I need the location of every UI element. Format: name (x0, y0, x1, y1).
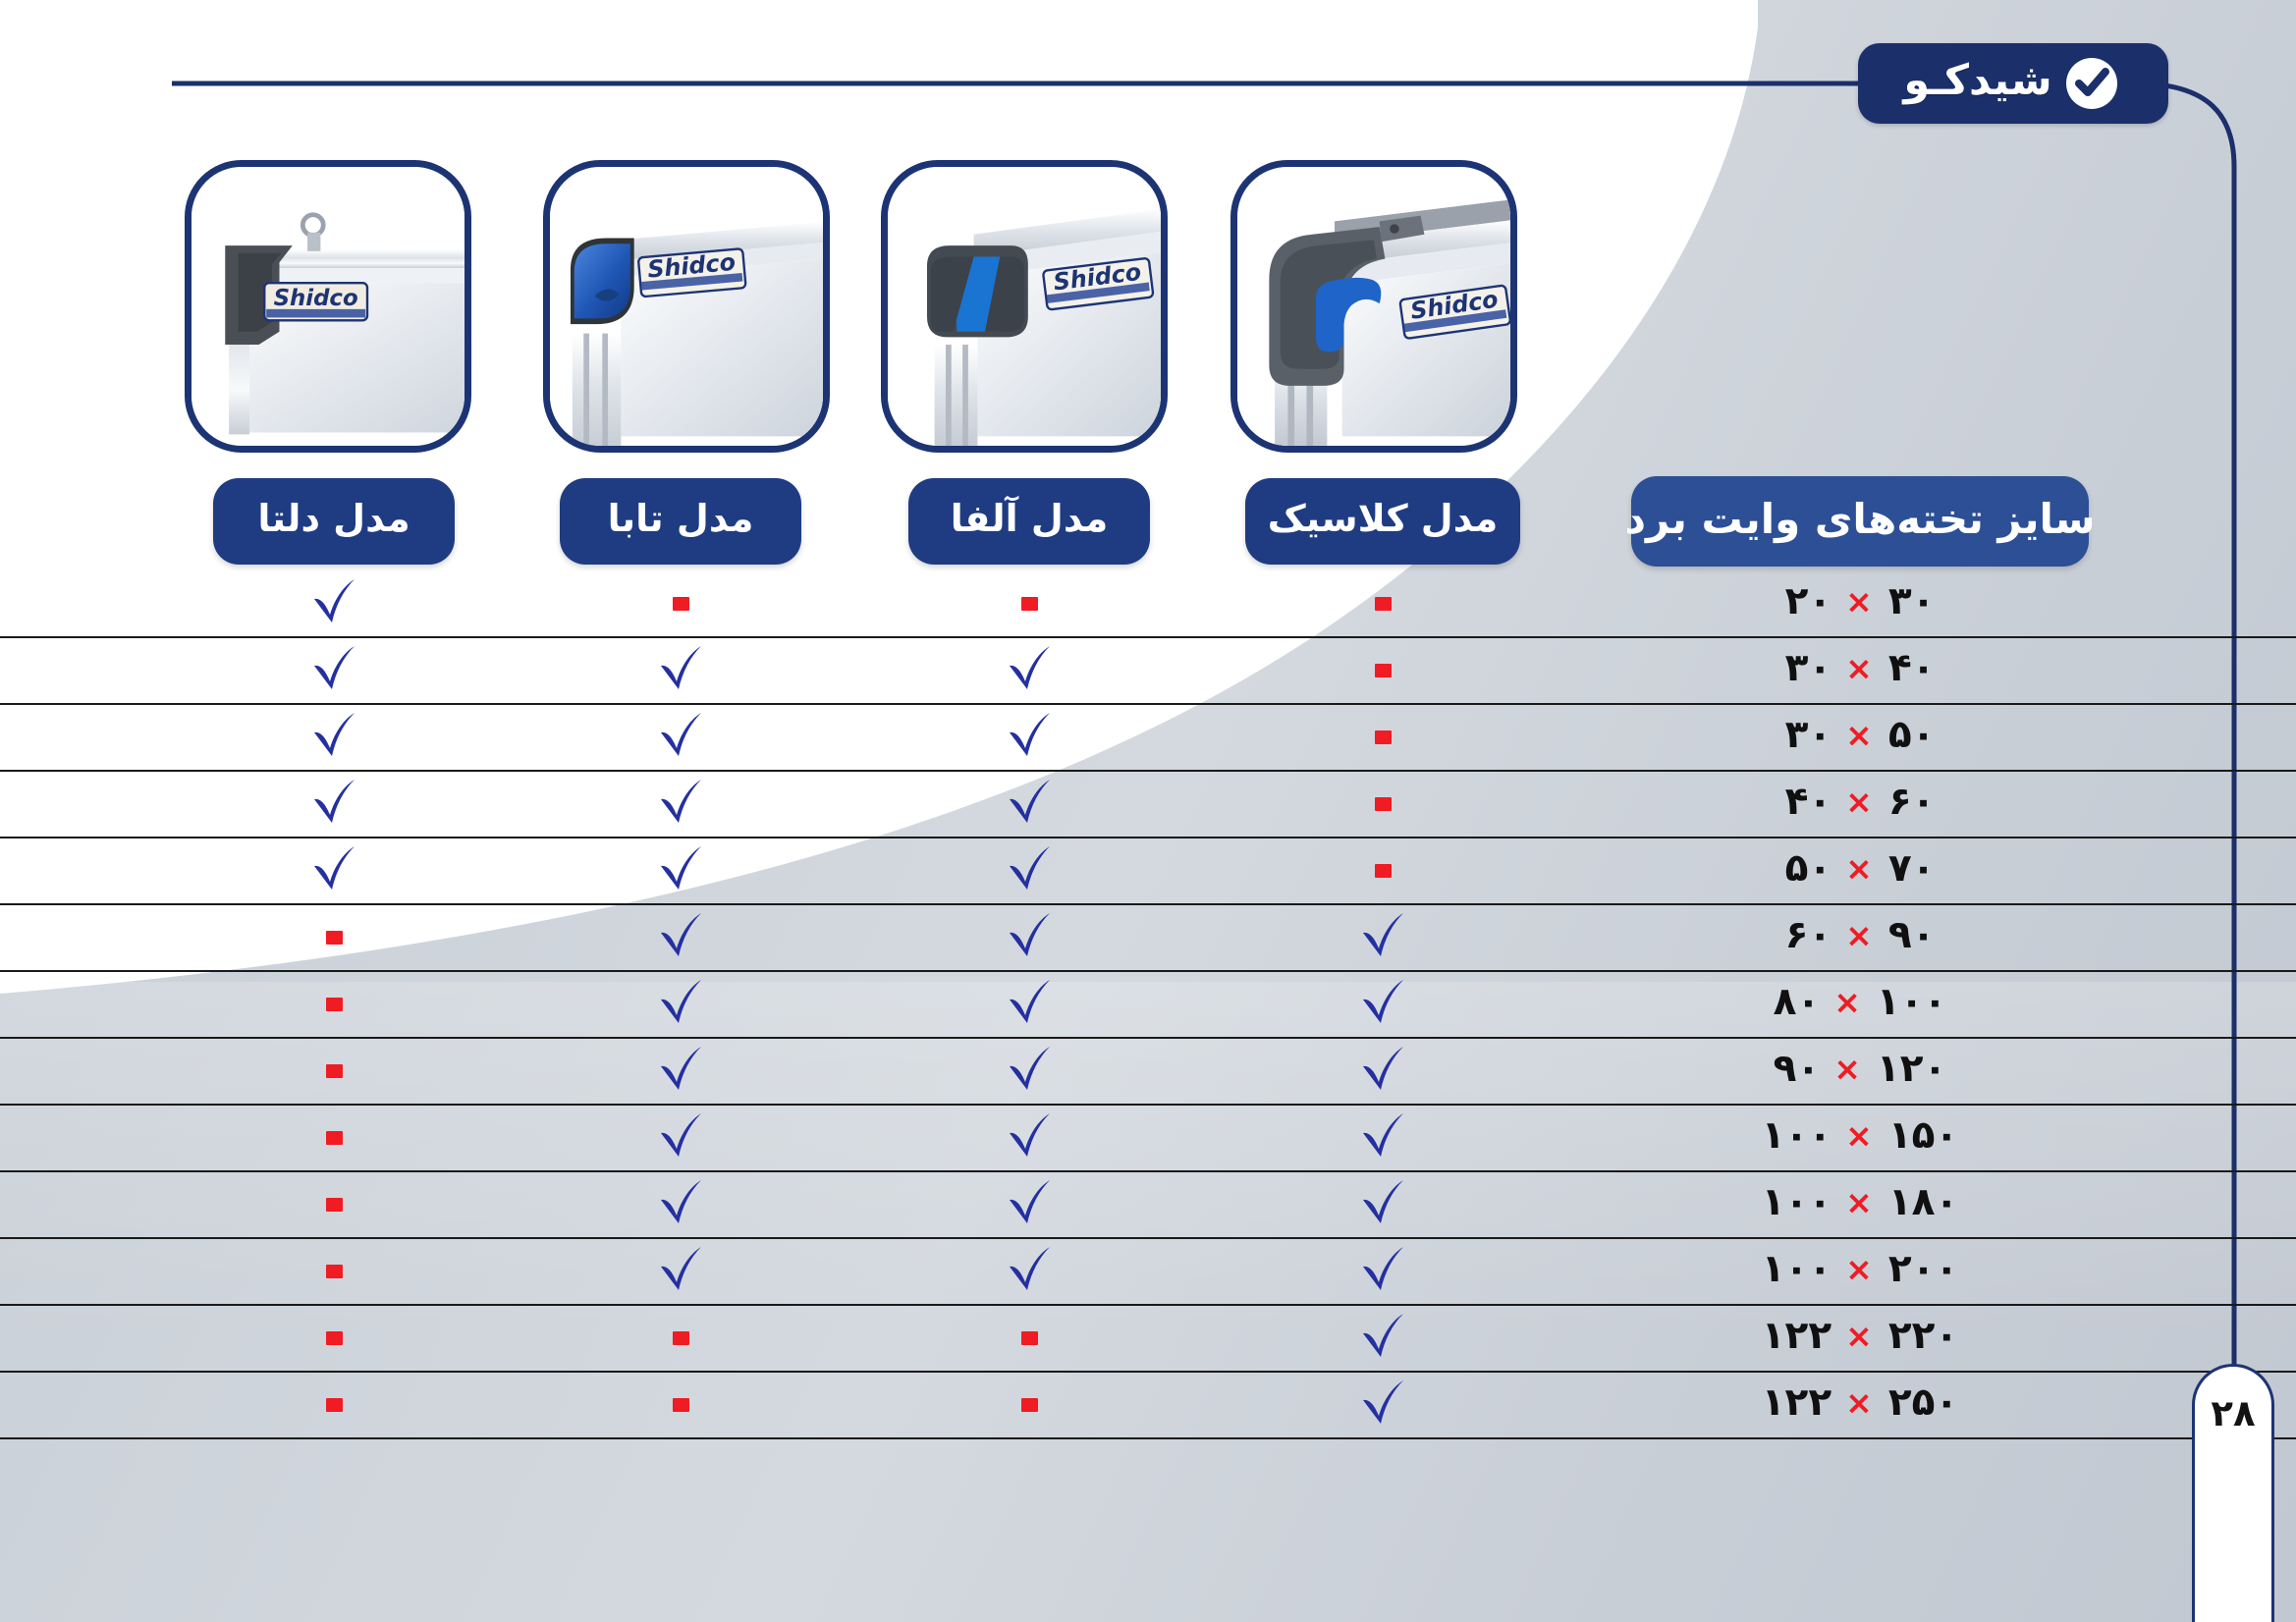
unavailable-dash-icon (673, 597, 689, 611)
column-header-delta-label: مدل دلتا (257, 497, 410, 540)
check-icon (308, 845, 359, 896)
cell-alfa (908, 905, 1150, 970)
check-icon (1004, 712, 1055, 763)
size-width: ۳۰ (1785, 646, 1832, 690)
size-multiply-sign: × (1845, 1383, 1875, 1422)
cell-alfa (908, 571, 1150, 636)
size-height: ۱۵۰ (1888, 1113, 1958, 1158)
unavailable-dash-icon (1021, 1398, 1038, 1412)
size-multiply-sign: × (1845, 849, 1875, 888)
check-icon (1357, 1246, 1408, 1297)
unavailable-dash-icon (673, 1398, 689, 1412)
unavailable-dash-icon (326, 1398, 343, 1412)
size-height: ۲۵۰ (1888, 1380, 1958, 1425)
size-height: ۲۰۰ (1888, 1247, 1958, 1291)
cell-size: ۱۰۰×۱۵۰ (1631, 1106, 2089, 1170)
cell-size: ۱۲۲×۲۲۰ (1631, 1306, 2089, 1371)
column-header-size: سایز تخته‌های وایت برد (1631, 476, 2089, 567)
cell-alfa (908, 1172, 1150, 1237)
cell-delta (213, 1306, 455, 1371)
cell-taba (560, 638, 801, 703)
cell-size: ۲۰×۳۰ (1631, 571, 2089, 636)
unavailable-dash-icon (326, 1331, 343, 1345)
unavailable-dash-icon (1375, 864, 1392, 878)
check-icon (1004, 845, 1055, 896)
column-header-size-label: سایز تخته‌های وایت برد (1624, 495, 2095, 543)
size-height: ۲۲۰ (1888, 1314, 1958, 1358)
size-width: ۴۰ (1785, 780, 1832, 824)
cell-size: ۱۰۰×۲۰۰ (1631, 1239, 2089, 1304)
unavailable-dash-icon (1375, 664, 1392, 677)
unavailable-dash-icon (1375, 597, 1392, 611)
size-multiply-sign: × (1845, 1183, 1875, 1221)
cell-classic (1245, 1373, 1520, 1437)
size-width: ۶۰ (1785, 913, 1832, 957)
check-icon (1004, 912, 1055, 963)
check-icon (1357, 1112, 1408, 1163)
check-icon (308, 779, 359, 830)
cell-classic (1245, 638, 1520, 703)
size-height: ۹۰ (1888, 913, 1936, 957)
cell-delta (213, 1039, 455, 1104)
cell-size: ۳۰×۵۰ (1631, 705, 2089, 770)
table-row: ۱۰۰×۱۸۰ (0, 1172, 2296, 1239)
cell-taba (560, 772, 801, 837)
cell-delta (213, 972, 455, 1037)
size-width: ۱۲۲ (1762, 1314, 1831, 1358)
page-number: ۲۸ (2195, 1392, 2271, 1434)
column-header-taba-label: مدل تابا (608, 497, 754, 540)
size-multiply-sign: × (1833, 983, 1863, 1021)
cell-classic (1245, 838, 1520, 903)
size-multiply-sign: × (1845, 582, 1875, 621)
table-row: ۱۲۲×۲۵۰ (0, 1373, 2296, 1439)
cell-delta (213, 838, 455, 903)
cell-classic (1245, 1039, 1520, 1104)
cell-classic (1245, 1306, 1520, 1371)
cell-size: ۱۲۲×۲۵۰ (1631, 1373, 2089, 1437)
size-multiply-sign: × (1833, 1050, 1863, 1088)
cell-classic (1245, 705, 1520, 770)
table-row: ۶۰×۹۰ (0, 905, 2296, 972)
check-icon (1004, 1179, 1055, 1230)
cell-taba (560, 972, 801, 1037)
cell-taba (560, 1239, 801, 1304)
cell-classic (1245, 1172, 1520, 1237)
cell-classic (1245, 1106, 1520, 1170)
cell-classic (1245, 571, 1520, 636)
cell-classic (1245, 1239, 1520, 1304)
cell-delta (213, 705, 455, 770)
cell-alfa (908, 972, 1150, 1037)
check-icon (1357, 979, 1408, 1030)
catalog-page: شیدکـو (0, 0, 2296, 1622)
check-icon (655, 979, 706, 1030)
cell-alfa (908, 638, 1150, 703)
unavailable-dash-icon (326, 998, 343, 1011)
check-icon (1357, 1179, 1408, 1230)
check-icon (655, 845, 706, 896)
size-multiply-sign: × (1845, 916, 1875, 954)
size-height: ۳۰ (1888, 579, 1936, 623)
size-width: ۲۰ (1785, 579, 1832, 623)
unavailable-dash-icon (326, 1198, 343, 1212)
cell-alfa (908, 772, 1150, 837)
cell-delta (213, 772, 455, 837)
check-icon (655, 912, 706, 963)
check-icon (1357, 1313, 1408, 1364)
table-row: ۹۰×۱۲۰ (0, 1039, 2296, 1106)
cell-taba (560, 1106, 801, 1170)
cell-delta (213, 638, 455, 703)
column-header-classic-label: مدل کلاسیک (1268, 497, 1498, 540)
size-multiply-sign: × (1845, 1250, 1875, 1288)
unavailable-dash-icon (326, 1131, 343, 1145)
check-icon (1004, 1046, 1055, 1097)
size-height: ۱۰۰ (1877, 980, 1946, 1024)
cell-delta (213, 1239, 455, 1304)
cell-taba (560, 1306, 801, 1371)
unavailable-dash-icon (1375, 797, 1392, 811)
brand-name: شیدکـو (1903, 60, 2051, 102)
check-icon (1357, 1379, 1408, 1431)
size-width: ۱۲۲ (1762, 1380, 1831, 1425)
unavailable-dash-icon (326, 1265, 343, 1278)
check-icon (655, 779, 706, 830)
cell-alfa (908, 1373, 1150, 1437)
cell-alfa (908, 1306, 1150, 1371)
table-row: ۸۰×۱۰۰ (0, 972, 2296, 1039)
cell-size: ۳۰×۴۰ (1631, 638, 2089, 703)
cell-taba (560, 1373, 801, 1437)
size-height: ۱۸۰ (1888, 1180, 1958, 1224)
cell-classic (1245, 772, 1520, 837)
column-header-taba[interactable]: مدل تابا (560, 478, 801, 565)
table-row: ۳۰×۵۰ (0, 705, 2296, 772)
cell-size: ۶۰×۹۰ (1631, 905, 2089, 970)
cell-alfa (908, 838, 1150, 903)
cell-delta (213, 571, 455, 636)
unavailable-dash-icon (1021, 1331, 1038, 1345)
cell-taba (560, 905, 801, 970)
brand-logo: شیدکـو (1858, 43, 2168, 124)
check-icon (1004, 645, 1055, 696)
unavailable-dash-icon (673, 1331, 689, 1345)
check-icon (655, 712, 706, 763)
check-icon (1357, 912, 1408, 963)
whiteboard-size-table: ۲۰×۳۰۳۰×۴۰۳۰×۵۰۴۰×۶۰۵۰×۷۰۶۰×۹۰۸۰×۱۰۰۹۰×۱… (0, 571, 2296, 1439)
check-icon (1357, 1046, 1408, 1097)
check-icon (655, 645, 706, 696)
cell-alfa (908, 1106, 1150, 1170)
check-icon (308, 578, 359, 629)
size-width: ۳۰ (1785, 713, 1832, 757)
size-height: ۵۰ (1888, 713, 1936, 757)
unavailable-dash-icon (1375, 730, 1392, 744)
cell-size: ۸۰×۱۰۰ (1631, 972, 2089, 1037)
cell-taba (560, 1039, 801, 1104)
column-header-delta[interactable]: مدل دلتا (213, 478, 455, 565)
check-icon (1004, 1246, 1055, 1297)
column-header-alfa-label: مدل آلفا (951, 497, 1109, 540)
table-row: ۱۰۰×۱۵۰ (0, 1106, 2296, 1172)
cell-taba (560, 1172, 801, 1237)
size-width: ۱۰۰ (1762, 1247, 1831, 1291)
check-icon (1004, 779, 1055, 830)
check-icon (655, 1179, 706, 1230)
size-width: ۱۰۰ (1762, 1180, 1831, 1224)
cell-taba (560, 705, 801, 770)
table-row: ۵۰×۷۰ (0, 838, 2296, 905)
check-icon (655, 1046, 706, 1097)
cell-alfa (908, 1039, 1150, 1104)
size-width: ۹۰ (1774, 1047, 1821, 1091)
cell-taba (560, 838, 801, 903)
size-width: ۵۰ (1785, 846, 1832, 891)
cell-size: ۴۰×۶۰ (1631, 772, 2089, 837)
cell-size: ۱۰۰×۱۸۰ (1631, 1172, 2089, 1237)
cell-delta (213, 905, 455, 970)
size-height: ۷۰ (1888, 846, 1936, 891)
size-multiply-sign: × (1845, 1317, 1875, 1355)
check-icon (655, 1246, 706, 1297)
size-multiply-sign: × (1845, 1116, 1875, 1155)
cell-alfa (908, 1239, 1150, 1304)
cell-size: ۹۰×۱۲۰ (1631, 1039, 2089, 1104)
unavailable-dash-icon (1021, 597, 1038, 611)
size-multiply-sign: × (1845, 783, 1875, 821)
cell-delta (213, 1106, 455, 1170)
column-header-alfa[interactable]: مدل آلفا (908, 478, 1150, 565)
cell-delta (213, 1373, 455, 1437)
table-row: ۱۲۲×۲۲۰ (0, 1306, 2296, 1373)
cell-classic (1245, 972, 1520, 1037)
size-multiply-sign: × (1845, 649, 1875, 687)
unavailable-dash-icon (326, 1064, 343, 1078)
check-icon (1004, 1112, 1055, 1163)
table-row: ۱۰۰×۲۰۰ (0, 1239, 2296, 1306)
unavailable-dash-icon (326, 931, 343, 945)
cell-delta (213, 1172, 455, 1237)
size-height: ۱۲۰ (1877, 1047, 1946, 1091)
check-icon (1004, 979, 1055, 1030)
cell-taba (560, 571, 801, 636)
table-row: ۲۰×۳۰ (0, 571, 2296, 638)
cell-size: ۵۰×۷۰ (1631, 838, 2089, 903)
check-badge-icon (2066, 58, 2117, 109)
cell-classic (1245, 905, 1520, 970)
size-height: ۶۰ (1888, 780, 1936, 824)
size-multiply-sign: × (1845, 716, 1875, 754)
column-header-classic[interactable]: مدل کلاسیک (1245, 478, 1520, 565)
table-row: ۴۰×۶۰ (0, 772, 2296, 838)
size-height: ۴۰ (1888, 646, 1936, 690)
page-number-tab: ۲۸ (2192, 1364, 2274, 1622)
check-icon (655, 1112, 706, 1163)
size-width: ۱۰۰ (1762, 1113, 1831, 1158)
size-width: ۸۰ (1774, 980, 1821, 1024)
check-icon (308, 645, 359, 696)
check-icon (308, 712, 359, 763)
table-row: ۳۰×۴۰ (0, 638, 2296, 705)
cell-alfa (908, 705, 1150, 770)
